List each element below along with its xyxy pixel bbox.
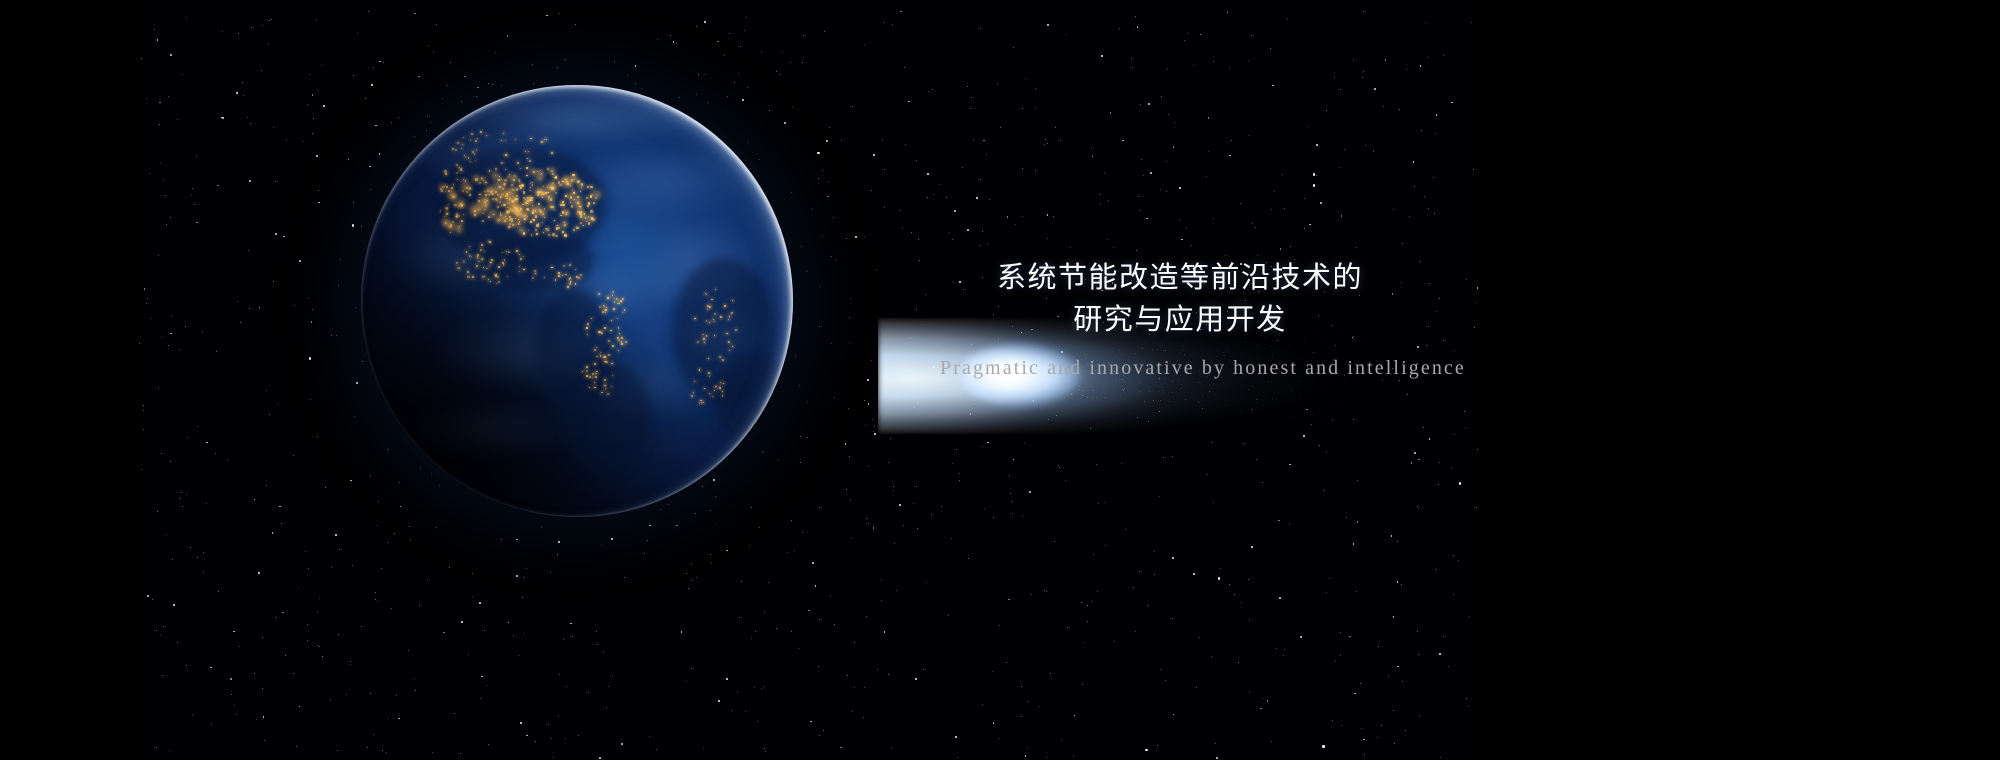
comet-with-tail [838, 300, 1458, 450]
space-photo-region [138, 0, 1478, 760]
globe-terminator-shadow [361, 85, 793, 517]
hero-banner: 系统节能改造等前沿技术的 研究与应用开发 Pragmatic and innov… [0, 0, 2000, 760]
comet-sparkles [838, 300, 1458, 450]
starfield [138, 0, 1478, 760]
earth-night-globe [361, 85, 793, 517]
comet-head [960, 344, 1080, 406]
comet-core [984, 358, 1036, 390]
comet-tail [878, 318, 1458, 434]
globe-sphere [361, 85, 793, 517]
